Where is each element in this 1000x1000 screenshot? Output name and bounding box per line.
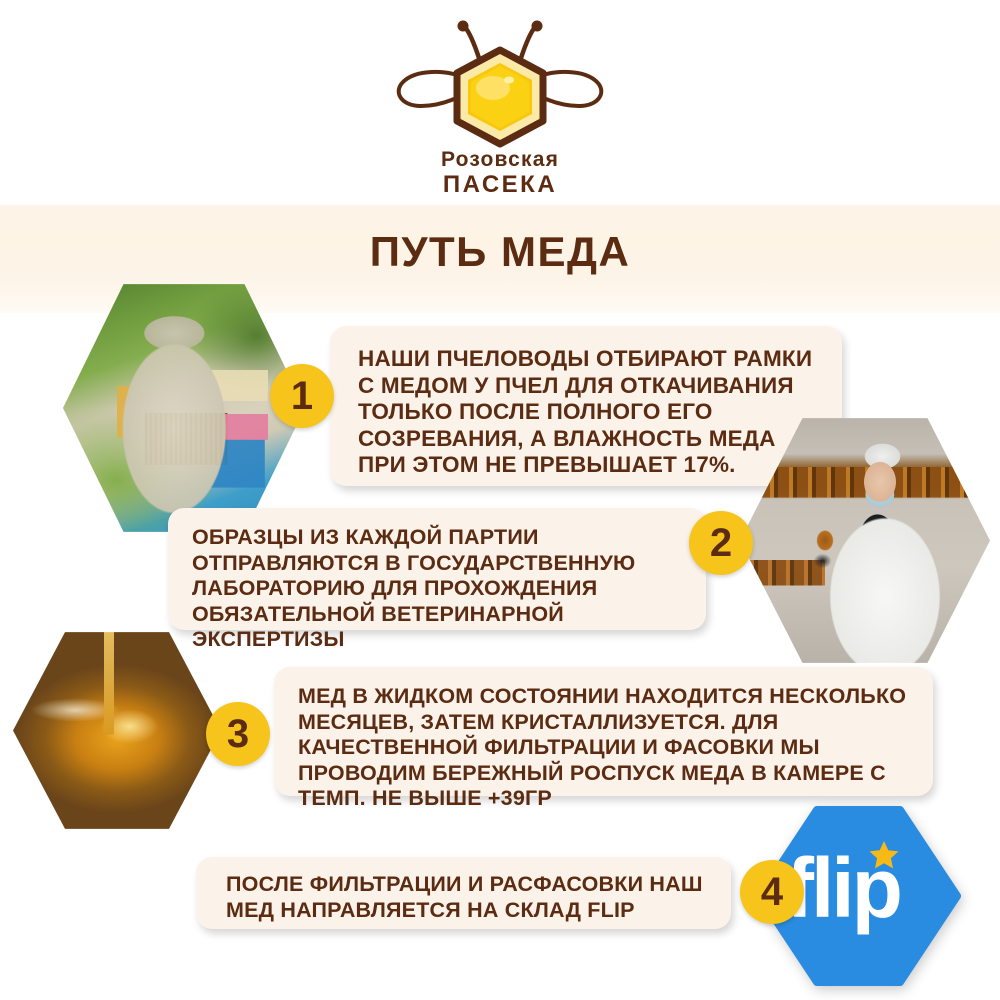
step-3-photo	[13, 628, 221, 833]
step-3-badge: 3	[206, 702, 270, 766]
step-1-badge: 1	[270, 364, 334, 428]
step-1-panel: НАШИ ПЧЕЛОВОДЫ ОТБИРАЮТ РАМКИ С МЕДОМ У …	[330, 326, 842, 486]
infographic-canvas: Розовская пасека ПУТЬ МЕДА НАШИ ПЧЕЛОВОД…	[0, 0, 1000, 1000]
step-4-badge: 4	[740, 860, 804, 924]
step-3-text: МЕД В ЖИДКОМ СОСТОЯНИИ НАХОДИТСЯ НЕСКОЛЬ…	[298, 684, 909, 812]
brand-name-line2: пасека	[443, 171, 557, 198]
brand-logo: Розовская пасека	[0, 18, 1000, 198]
brand-name-line1: Розовская	[441, 148, 559, 171]
bee-honeycomb-logo-icon: Розовская пасека	[375, 18, 625, 198]
step-2-badge: 2	[689, 511, 753, 575]
page-title: ПУТЬ МЕДА	[0, 228, 1000, 276]
step-2-text: ОБРАЗЦЫ ИЗ КАЖДОЙ ПАРТИИ ОТПРАВЛЯЮТСЯ В …	[192, 525, 682, 653]
step-4-text: ПОСЛЕ ФИЛЬТРАЦИИ И РАСФАСОВКИ НАШ МЕД НА…	[226, 872, 707, 923]
flip-star-icon	[866, 838, 902, 874]
step-1-text: НАШИ ПЧЕЛОВОДЫ ОТБИРАЮТ РАМКИ С МЕДОМ У …	[358, 346, 816, 479]
step-1-photo	[63, 279, 305, 537]
step-2-panel: ОБРАЗЦЫ ИЗ КАЖДОЙ ПАРТИИ ОТПРАВЛЯЮТСЯ В …	[168, 508, 706, 630]
step-3-panel: МЕД В ЖИДКОМ СОСТОЯНИИ НАХОДИТСЯ НЕСКОЛЬ…	[274, 667, 933, 796]
step-4-panel: ПОСЛЕ ФИЛЬТРАЦИИ И РАСФАСОВКИ НАШ МЕД НА…	[196, 857, 731, 929]
